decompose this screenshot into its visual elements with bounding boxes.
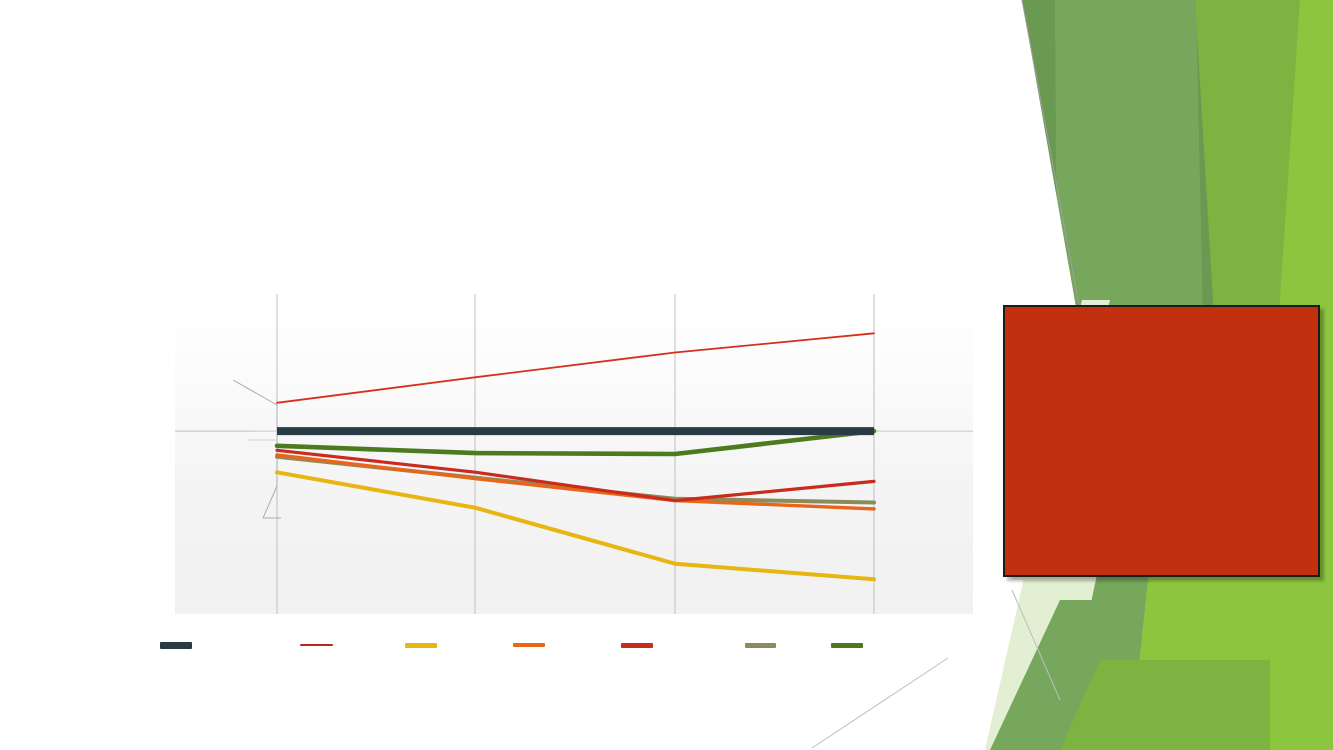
- legend-entry-6[interactable]: [745, 636, 782, 654]
- legend-entry-5[interactable]: [621, 636, 659, 654]
- deco-mid-bottom: [1060, 660, 1270, 750]
- legend-entry-4[interactable]: [513, 636, 551, 654]
- line-chart[interactable]: [175, 294, 973, 614]
- chart-svg: [175, 294, 973, 614]
- legend-swatch-4: [513, 643, 545, 647]
- deco-hairline-mid: [1012, 590, 1060, 700]
- legend-entry-3[interactable]: [405, 636, 443, 654]
- deco-light-bottom: [990, 600, 1190, 750]
- series-line-6: [277, 457, 874, 503]
- legend-swatch-5: [621, 643, 653, 648]
- legend-entry-2[interactable]: [300, 636, 339, 654]
- series-line-2: [277, 333, 874, 403]
- chart-legend[interactable]: [160, 636, 880, 656]
- legend-swatch-7: [831, 643, 863, 648]
- chart-callout-upper: [233, 380, 277, 434]
- slide-canvas: [0, 0, 1333, 750]
- legend-entry-7[interactable]: [831, 636, 869, 654]
- legend-swatch-3: [405, 643, 437, 648]
- deco-hairline-bottom: [812, 658, 948, 748]
- legend-entry-1[interactable]: [160, 636, 198, 654]
- series-line-5: [277, 450, 874, 500]
- deco-hairline-top: [1022, 0, 1080, 310]
- deco-pale-wedge-top: [1003, 0, 1150, 330]
- legend-swatch-1: [160, 642, 192, 649]
- deco-bright-bottom: [1130, 560, 1333, 750]
- legend-swatch-2: [300, 644, 333, 646]
- legend-swatch-6: [745, 643, 776, 648]
- red-rectangle-shape[interactable]: [1003, 305, 1320, 577]
- deco-pale-wedge-bottom: [985, 560, 1100, 750]
